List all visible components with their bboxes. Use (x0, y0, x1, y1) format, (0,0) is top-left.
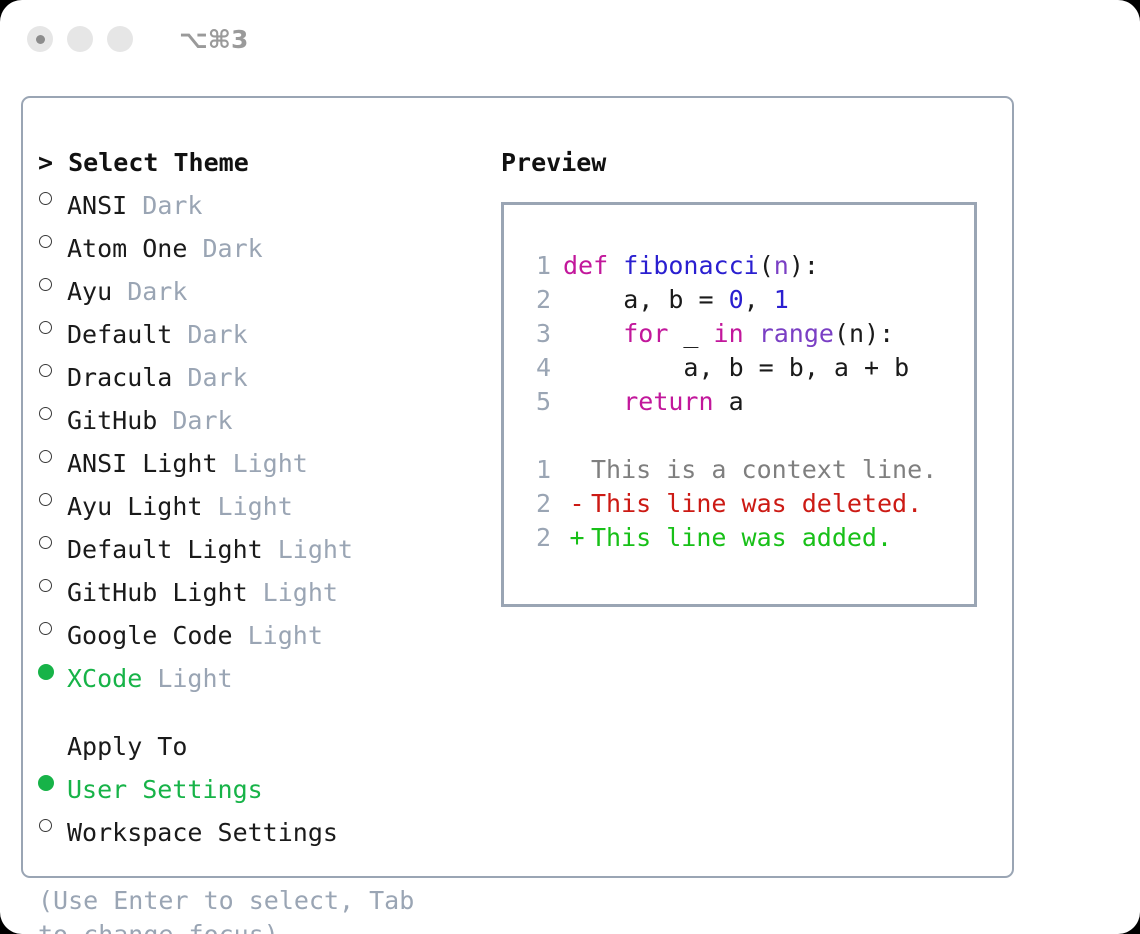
code-token-plain: , (744, 285, 774, 314)
radio-ring (39, 819, 52, 832)
radio-ring (39, 536, 52, 549)
code-line-number: 2 (520, 283, 551, 317)
radio-unselected-icon (38, 180, 67, 214)
code-diff-spacer (520, 419, 974, 453)
theme-option-2[interactable]: Ayu Dark (38, 266, 488, 309)
code-line: 2 a, b = 0, 1 (520, 283, 974, 317)
radio-unselected-icon (38, 610, 67, 644)
theme-option-8[interactable]: Default Light Light (38, 524, 488, 567)
diff-line-add: 2+This line was added. (520, 521, 974, 555)
radio-unselected-icon (38, 524, 67, 558)
select-theme-header-label: Select Theme (68, 148, 249, 177)
code-line-number: 3 (520, 317, 551, 351)
theme-option-7[interactable]: Ayu Light Light (38, 481, 488, 524)
code-token-builtin: range (759, 319, 834, 348)
diff-sample: 1 This is a context line.2-This line was… (520, 453, 974, 555)
theme-option-4[interactable]: Dracula Dark (38, 352, 488, 395)
code-token-kw: in (714, 319, 744, 348)
diff-line-ctx: 1 This is a context line. (520, 453, 974, 487)
code-sample: 1def fibonacci(n):2 a, b = 0, 13 for _ i… (520, 249, 974, 419)
code-token-plain: a (714, 387, 744, 416)
radio-ring (39, 407, 52, 420)
theme-option-label: GitHub (67, 404, 157, 438)
code-token-plain: _ (668, 319, 713, 348)
code-token-plain: ): (789, 251, 819, 280)
theme-option-label: Atom One (67, 232, 187, 266)
radio-ring (39, 579, 52, 592)
diff-marker-icon: + (563, 521, 591, 555)
theme-option-label: Ayu Light (67, 490, 202, 524)
radio-unselected-icon (38, 481, 67, 515)
theme-option-tag: Light (233, 619, 323, 653)
theme-option-label: Dracula (67, 361, 172, 395)
theme-option-tag: Light (202, 490, 292, 524)
traffic-light-maximize[interactable] (107, 26, 133, 52)
radio-ring (39, 450, 52, 463)
preview-code-box: 1def fibonacci(n):2 a, b = 0, 13 for _ i… (501, 202, 977, 607)
radio-dot (38, 664, 54, 680)
radio-ring (39, 278, 52, 291)
traffic-light-active-indicator (36, 35, 45, 44)
caret-icon: > (38, 148, 53, 177)
theme-option-tag: Dark (172, 361, 247, 395)
theme-list: ANSI DarkAtom One DarkAyu DarkDefault Da… (38, 180, 488, 696)
apply-to-option-label: User Settings (67, 773, 263, 807)
theme-option-3[interactable]: Default Dark (38, 309, 488, 352)
radio-dot (38, 775, 54, 791)
diff-line-text: This line was added. (591, 521, 892, 555)
theme-option-tag: Light (218, 447, 308, 481)
radio-unselected-icon (38, 567, 67, 601)
select-theme-header: > Select Theme (38, 146, 488, 180)
apply-to-header: Apply To (38, 730, 488, 764)
radio-unselected-icon (38, 352, 67, 386)
radio-selected-icon (38, 653, 67, 687)
code-token-plain (563, 319, 623, 348)
code-token-param: n (774, 251, 789, 280)
theme-option-label: Ayu (67, 275, 112, 309)
radio-unselected-icon (38, 395, 67, 429)
radio-ring (39, 235, 52, 248)
keyboard-shortcut-label: ⌥⌘3 (179, 25, 248, 54)
theme-option-11[interactable]: XCode Light (38, 653, 488, 696)
code-token-num: 0 (729, 285, 744, 314)
radio-ring (39, 364, 52, 377)
theme-option-6[interactable]: ANSI Light Light (38, 438, 488, 481)
radio-unselected-icon (38, 266, 67, 300)
preview-column: Preview 1def fibonacci(n):2 a, b = 0, 13… (501, 146, 1001, 607)
diff-line-text: This is a context line. (591, 453, 937, 487)
theme-option-label: ANSI Light (67, 447, 218, 481)
radio-unselected-icon (38, 223, 67, 257)
theme-option-label: XCode (67, 662, 142, 696)
theme-option-label: Default Light (67, 533, 263, 567)
apply-to-option-0[interactable]: User Settings (38, 764, 488, 807)
code-line-number: 1 (520, 249, 551, 283)
code-token-kw: return (623, 387, 713, 416)
theme-option-tag: Light (248, 576, 338, 610)
diff-line-number: 2 (520, 487, 551, 521)
radio-selected-icon (38, 764, 67, 798)
theme-option-label: GitHub Light (67, 576, 248, 610)
code-line-number: 4 (520, 351, 551, 385)
theme-option-tag: Dark (127, 189, 202, 223)
radio-ring (39, 321, 52, 334)
theme-option-label: Google Code (67, 619, 233, 653)
code-token-kw: for (623, 319, 668, 348)
code-token-kw: def (563, 251, 623, 280)
code-line: 4 a, b = b, a + b (520, 351, 974, 385)
theme-option-tag: Light (263, 533, 353, 567)
radio-ring (39, 622, 52, 635)
theme-picker-column: > Select Theme ANSI DarkAtom One DarkAyu… (38, 146, 488, 934)
radio-unselected-icon (38, 309, 67, 343)
code-token-fn: fibonacci (623, 251, 758, 280)
theme-option-0[interactable]: ANSI Dark (38, 180, 488, 223)
code-line-text: a, b = 0, 1 (563, 283, 789, 317)
code-line-text: return a (563, 385, 744, 419)
theme-option-tag: Dark (112, 275, 187, 309)
theme-option-tag: Dark (157, 404, 232, 438)
theme-option-label: Default (67, 318, 172, 352)
diff-line-del: 2-This line was deleted. (520, 487, 974, 521)
code-line-number: 5 (520, 385, 551, 419)
code-token-plain (744, 319, 759, 348)
radio-unselected-icon (38, 807, 67, 841)
radio-ring (39, 192, 52, 205)
theme-option-10[interactable]: Google Code Light (38, 610, 488, 653)
traffic-light-close[interactable] (27, 26, 53, 52)
code-token-plain (563, 387, 623, 416)
main-panel: > Select Theme ANSI DarkAtom One DarkAyu… (21, 96, 1014, 878)
code-line: 3 for _ in range(n): (520, 317, 974, 351)
diff-line-text: This line was deleted. (591, 487, 922, 521)
preview-title: Preview (501, 146, 1001, 180)
theme-option-tag: Dark (187, 232, 262, 266)
code-token-plain: ( (759, 251, 774, 280)
diff-line-number: 1 (520, 453, 551, 487)
apply-to-option-label: Workspace Settings (67, 816, 338, 850)
window-titlebar: ⌥⌘3 (0, 0, 1140, 78)
code-line: 5 return a (520, 385, 974, 419)
traffic-light-minimize[interactable] (67, 26, 93, 52)
code-line: 1def fibonacci(n): (520, 249, 974, 283)
theme-option-tag: Dark (172, 318, 247, 352)
apply-to-option-1[interactable]: Workspace Settings (38, 807, 488, 850)
code-token-plain: (n): (834, 319, 894, 348)
theme-option-1[interactable]: Atom One Dark (38, 223, 488, 266)
radio-unselected-icon (38, 438, 67, 472)
code-token-plain: a, b = (563, 285, 729, 314)
code-token-num: 1 (774, 285, 789, 314)
apply-to-list: User SettingsWorkspace Settings (38, 764, 488, 850)
diff-marker-icon (563, 453, 591, 487)
code-token-plain: a, b = b, a + b (563, 353, 909, 382)
theme-option-5[interactable]: GitHub Dark (38, 395, 488, 438)
keyboard-hint-text: (Use Enter to select, Tab to change focu… (38, 884, 448, 934)
theme-option-9[interactable]: GitHub Light Light (38, 567, 488, 610)
diff-line-number: 2 (520, 521, 551, 555)
code-line-text: a, b = b, a + b (563, 351, 909, 385)
radio-ring (39, 493, 52, 506)
code-line-text: for _ in range(n): (563, 317, 894, 351)
code-line-text: def fibonacci(n): (563, 249, 819, 283)
diff-marker-icon: - (563, 487, 591, 521)
app-window: ⌥⌘3 > Select Theme ANSI DarkAtom One Dar… (0, 0, 1140, 934)
theme-option-tag: Light (142, 662, 232, 696)
theme-option-label: ANSI (67, 189, 127, 223)
section-spacer (38, 696, 488, 730)
